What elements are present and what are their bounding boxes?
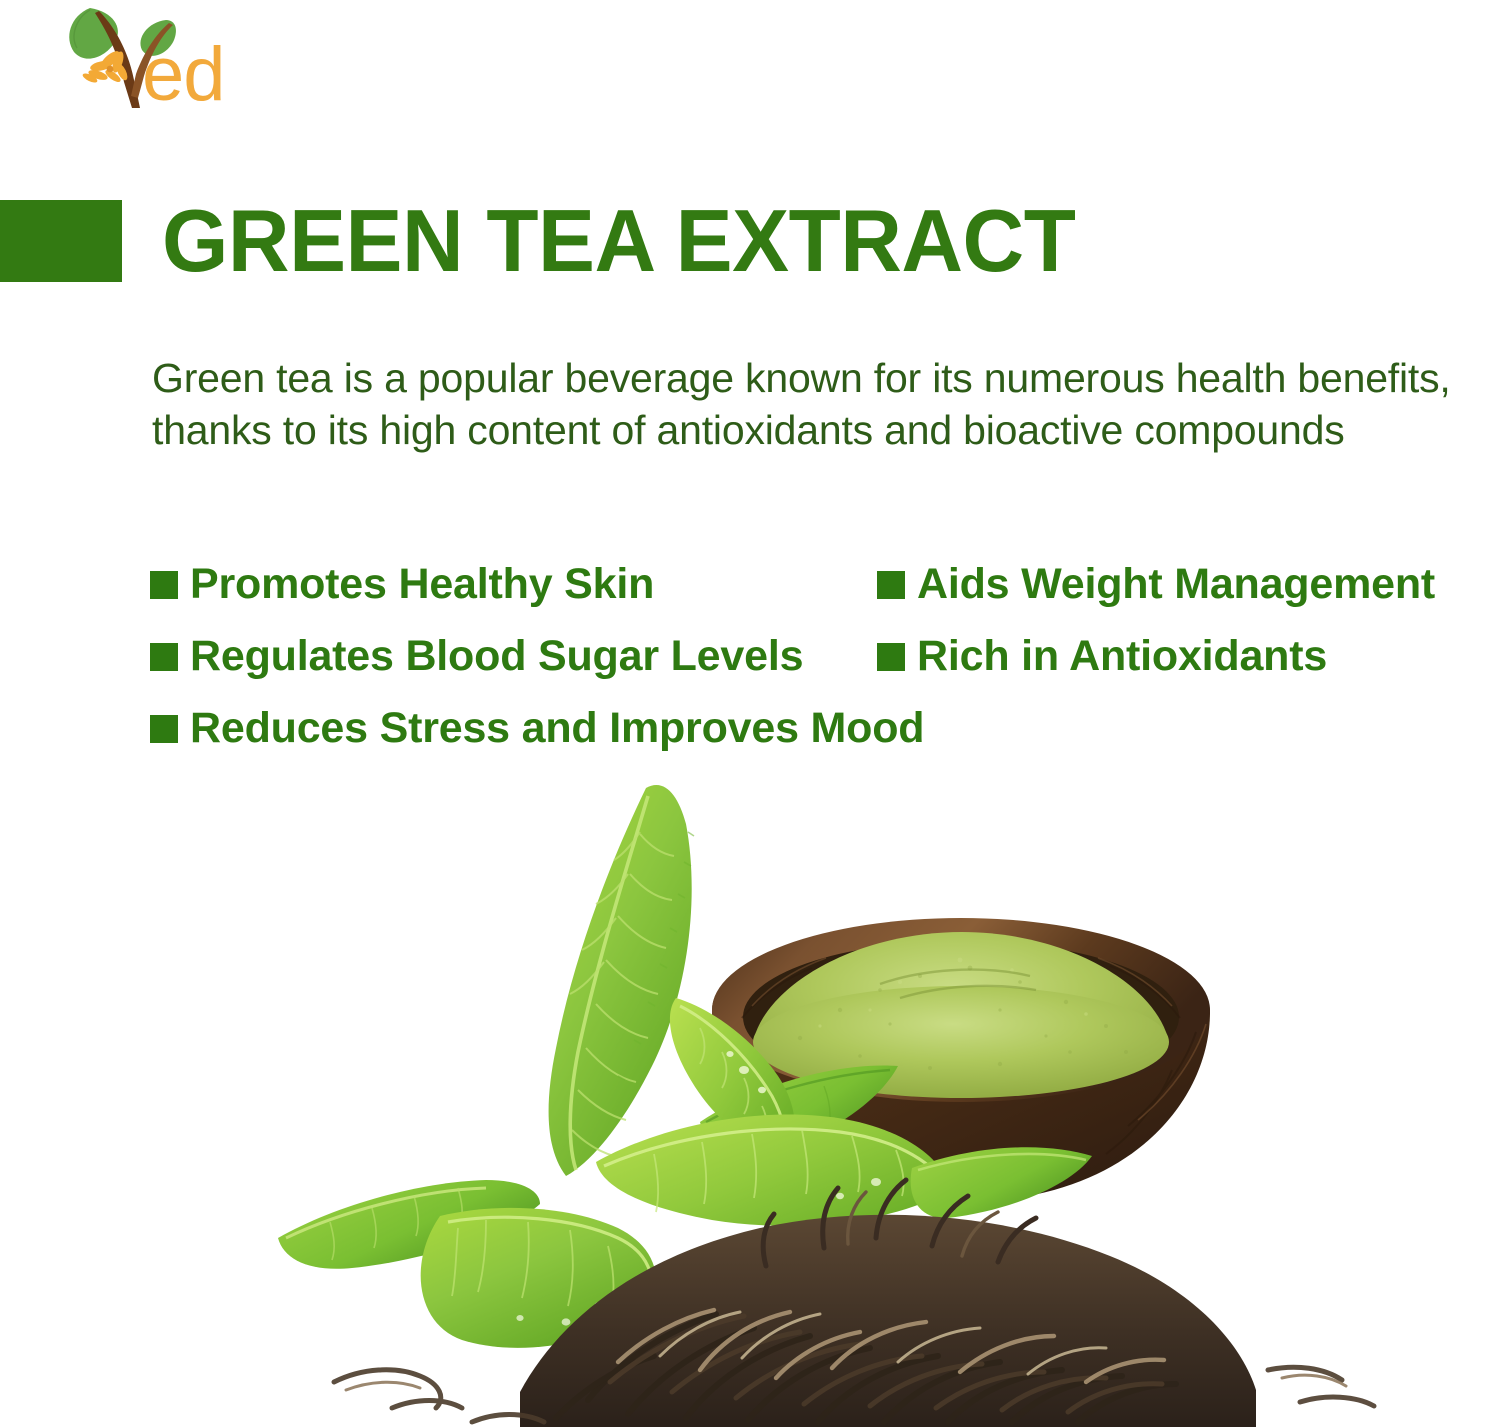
- benefit-label: Aids Weight Management: [917, 561, 1435, 607]
- benefit-item: Regulates Blood Sugar Levels: [150, 620, 924, 692]
- benefits-column-right: Aids Weight Management Rich in Antioxida…: [877, 548, 1435, 692]
- bullet-square-icon: [877, 643, 905, 671]
- benefit-item: Promotes Healthy Skin: [150, 548, 924, 620]
- page-title: GREEN TEA EXTRACT: [162, 198, 1075, 284]
- logo-wordmark: ed: [142, 32, 225, 112]
- bullet-square-icon: [877, 571, 905, 599]
- page-title-row: GREEN TEA EXTRACT: [0, 196, 1104, 286]
- product-photo-illustration: [0, 770, 1500, 1427]
- brand-logo: ed: [56, 4, 286, 112]
- title-accent-block: [0, 200, 122, 282]
- benefit-label: Rich in Antioxidants: [917, 633, 1327, 679]
- bullet-square-icon: [150, 715, 178, 743]
- bullet-square-icon: [150, 571, 178, 599]
- product-photo: [0, 770, 1500, 1427]
- benefits-list: Promotes Healthy Skin Regulates Blood Su…: [0, 548, 1500, 758]
- benefit-label: Reduces Stress and Improves Mood: [190, 705, 924, 751]
- benefit-item: Rich in Antioxidants: [877, 620, 1435, 692]
- benefit-item: Reduces Stress and Improves Mood: [150, 692, 924, 764]
- benefit-label: Promotes Healthy Skin: [190, 561, 654, 607]
- benefit-label: Regulates Blood Sugar Levels: [190, 633, 803, 679]
- benefit-item: Aids Weight Management: [877, 548, 1435, 620]
- bullet-square-icon: [150, 643, 178, 671]
- intro-paragraph: Green tea is a popular beverage known fo…: [152, 352, 1482, 456]
- brand-logo-mark: ed: [56, 4, 286, 112]
- benefits-column-left: Promotes Healthy Skin Regulates Blood Su…: [150, 548, 924, 764]
